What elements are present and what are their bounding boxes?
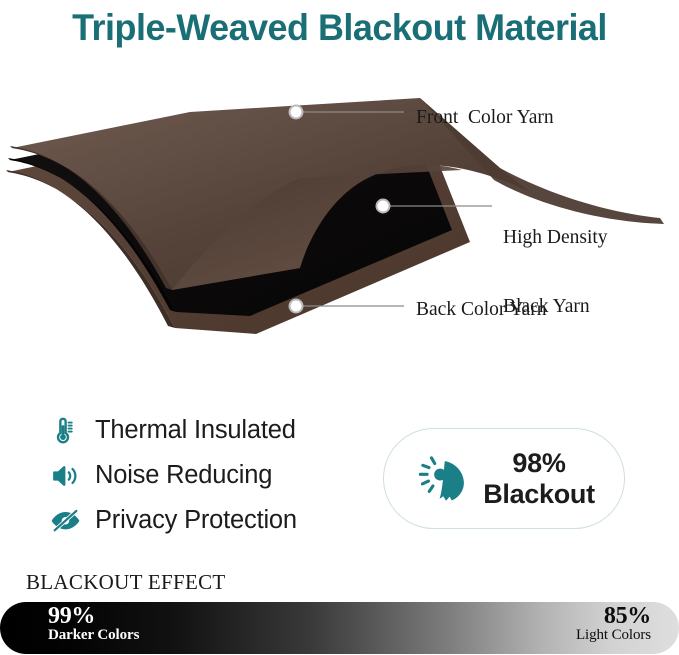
page-title: Triple-Weaved Blackout Material [10, 0, 669, 52]
feature-item-thermal-insulated: Thermal Insulated [48, 408, 378, 453]
blackout-percentage-badge: 98% Blackout [383, 428, 625, 529]
light-colors-percent: 85% [576, 604, 651, 628]
leader-marker-front [290, 106, 303, 119]
blackout-effect-heading: BLACKOUT EFFECT [26, 570, 226, 595]
speaker-volume-icon [48, 459, 82, 493]
blackout-effect-darker-colors: 99% Darker Colors [48, 604, 139, 644]
feature-label-privacy-protection: Privacy Protection [95, 506, 297, 535]
darker-colors-caption: Darker Colors [48, 628, 139, 643]
blackout-badge-text: 98% Blackout [483, 448, 595, 510]
eye-off-icon [48, 504, 82, 538]
leader-marker-black [377, 200, 390, 213]
light-colors-caption: Light Colors [576, 628, 651, 643]
blackout-label: Blackout [483, 479, 595, 509]
darker-colors-percent: 99% [48, 604, 139, 628]
leader-marker-back [290, 300, 303, 313]
thermometer-icon [48, 414, 82, 448]
label-front-color-yarn: Front Color Yarn [416, 106, 554, 129]
feature-label-noise-reducing: Noise Reducing [95, 461, 272, 490]
sun-blocked-by-curtain-icon [413, 448, 475, 510]
feature-label-thermal-insulated: Thermal Insulated [95, 416, 296, 445]
blackout-effect-light-colors: 85% Light Colors [576, 604, 651, 644]
label-high-density-black-yarn-line1: High Density [503, 226, 608, 249]
blackout-percent-value: 98% [512, 448, 565, 478]
feature-item-noise-reducing: Noise Reducing [48, 453, 378, 498]
feature-list: Thermal Insulated Noise Reducing Privacy… [48, 408, 378, 543]
feature-item-privacy-protection: Privacy Protection [48, 498, 378, 543]
label-back-color-yarn: Back Color Yarn [416, 298, 547, 321]
